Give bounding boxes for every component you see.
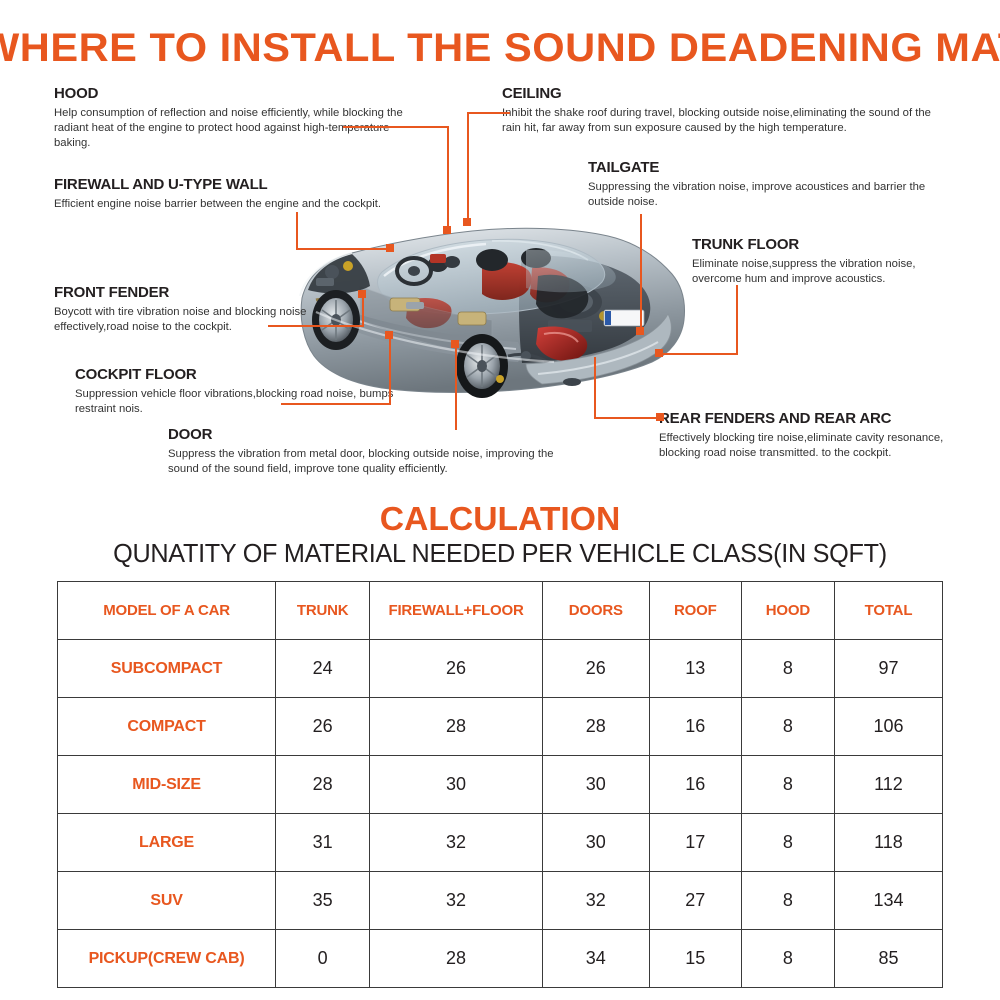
page-title: WHERE TO INSTALL THE SOUND DEADENING MAT…: [0, 26, 1000, 71]
cell-hood: 8: [741, 930, 834, 988]
callout-front-fender-desc: Boycott with tire vibration noise and bl…: [54, 305, 384, 335]
callout-hood: HOOD Help consumption of reflection and …: [54, 86, 404, 151]
connector-firewall-v: [296, 212, 298, 250]
connector-tailgate-dot: [636, 327, 644, 335]
table-row: COMPACT 26 28 28 16 8 106: [58, 698, 943, 756]
cell-firewall-floor: 32: [370, 872, 543, 930]
connector-door-dot: [451, 340, 459, 348]
cell-doors: 32: [542, 872, 649, 930]
cell-total: 118: [834, 814, 942, 872]
cell-firewall-floor: 32: [370, 814, 543, 872]
cell-firewall-floor: 28: [370, 698, 543, 756]
cell-roof: 13: [649, 640, 741, 698]
connector-firewall-h: [296, 248, 392, 250]
callout-trunk-floor-title: TRUNK FLOOR: [692, 237, 962, 254]
callout-rear-fenders-desc: Effectively blocking tire noise,eliminat…: [659, 431, 959, 461]
cell-hood: 8: [741, 698, 834, 756]
table-row: PICKUP(CREW CAB) 0 28 34 15 8 85: [58, 930, 943, 988]
cell-trunk: 0: [276, 930, 370, 988]
table-header-total: TOTAL: [834, 582, 942, 640]
cell-trunk: 26: [276, 698, 370, 756]
table-row: MID-SIZE 28 30 30 16 8 112: [58, 756, 943, 814]
table-row: LARGE 31 32 30 17 8 118: [58, 814, 943, 872]
connector-rear-fenders-h: [594, 417, 656, 419]
callout-rear-fenders-title: REAR FENDERS AND REAR ARC: [659, 411, 959, 428]
callout-cockpit-floor-desc: Suppression vehicle floor vibrations,blo…: [75, 387, 405, 417]
material-quantity-table: MODEL OF A CAR TRUNK FIREWALL+FLOOR DOOR…: [57, 581, 943, 988]
table-header-firewall-floor: FIREWALL+FLOOR: [370, 582, 543, 640]
cell-doors: 34: [542, 930, 649, 988]
callout-cockpit-floor-title: COCKPIT FLOOR: [75, 367, 405, 384]
cell-model: SUBCOMPACT: [58, 640, 276, 698]
cell-total: 97: [834, 640, 942, 698]
callout-trunk-floor-desc: Eliminate noise,suppress the vibration n…: [692, 257, 962, 287]
table-row: SUBCOMPACT 24 26 26 13 8 97: [58, 640, 943, 698]
connector-ceiling-dot: [463, 218, 471, 226]
cell-model: MID-SIZE: [58, 756, 276, 814]
callout-hood-title: HOOD: [54, 86, 404, 103]
cell-doors: 26: [542, 640, 649, 698]
calculation-subheading: QUNATITY OF MATERIAL NEEDED PER VEHICLE …: [15, 538, 985, 569]
connector-trunk-floor-h: [660, 353, 738, 355]
connector-front-fender-dot: [358, 290, 366, 298]
table-row: SUV 35 32 32 27 8 134: [58, 872, 943, 930]
connector-trunk-floor-v: [736, 285, 738, 355]
connector-hood-dot: [443, 226, 451, 234]
connector-hood-h: [343, 126, 449, 128]
cell-roof: 27: [649, 872, 741, 930]
table-header-doors: DOORS: [542, 582, 649, 640]
connector-cockpit-floor-h: [281, 403, 391, 405]
cell-trunk: 24: [276, 640, 370, 698]
callout-trunk-floor: TRUNK FLOOR Eliminate noise,suppress the…: [692, 237, 962, 287]
callout-ceiling-title: CEILING: [502, 86, 942, 103]
cell-total: 134: [834, 872, 942, 930]
cell-model: PICKUP(CREW CAB): [58, 930, 276, 988]
callout-ceiling-desc: Inhibit the shake roof during travel, bl…: [502, 106, 942, 136]
connector-ceiling-h: [467, 112, 510, 114]
cell-trunk: 31: [276, 814, 370, 872]
table-header-trunk: TRUNK: [276, 582, 370, 640]
cell-hood: 8: [741, 872, 834, 930]
connector-rear-fenders-v: [594, 357, 596, 419]
callout-door-title: DOOR: [168, 427, 558, 444]
infographic-page: WHERE TO INSTALL THE SOUND DEADENING MAT…: [0, 0, 1000, 1000]
callout-tailgate-title: TAILGATE: [588, 160, 948, 177]
connector-tailgate-v: [640, 214, 642, 332]
callout-door: DOOR Suppress the vibration from metal d…: [168, 427, 558, 477]
cell-hood: 8: [741, 640, 834, 698]
callout-firewall: FIREWALL AND U-TYPE WALL Efficient engin…: [54, 177, 454, 212]
cell-model: COMPACT: [58, 698, 276, 756]
table-header-hood: HOOD: [741, 582, 834, 640]
cell-roof: 16: [649, 698, 741, 756]
callout-tailgate: TAILGATE Suppressing the vibration noise…: [588, 160, 948, 210]
cell-firewall-floor: 28: [370, 930, 543, 988]
cell-hood: 8: [741, 814, 834, 872]
cell-doors: 30: [542, 756, 649, 814]
cell-roof: 17: [649, 814, 741, 872]
cell-total: 85: [834, 930, 942, 988]
connector-rear-fenders-dot: [656, 413, 664, 421]
cell-firewall-floor: 26: [370, 640, 543, 698]
callout-hood-desc: Help consumption of reflection and noise…: [54, 106, 404, 151]
cell-doors: 28: [542, 698, 649, 756]
cell-total: 112: [834, 756, 942, 814]
cell-hood: 8: [741, 756, 834, 814]
connector-cockpit-floor-dot: [385, 331, 393, 339]
cell-total: 106: [834, 698, 942, 756]
cell-doors: 30: [542, 814, 649, 872]
callout-door-desc: Suppress the vibration from metal door, …: [168, 447, 558, 477]
table-header-roof: ROOF: [649, 582, 741, 640]
calculation-heading: CALCULATION: [0, 500, 1000, 538]
connector-firewall-dot: [386, 244, 394, 252]
connector-door-v: [455, 345, 457, 430]
cell-firewall-floor: 30: [370, 756, 543, 814]
callout-firewall-title: FIREWALL AND U-TYPE WALL: [54, 177, 454, 194]
cell-model: LARGE: [58, 814, 276, 872]
connector-front-fender-h: [268, 325, 364, 327]
callout-tailgate-desc: Suppressing the vibration noise, improve…: [588, 180, 948, 210]
cell-trunk: 28: [276, 756, 370, 814]
connector-trunk-floor-dot: [655, 349, 663, 357]
callout-ceiling: CEILING Inhibit the shake roof during tr…: [502, 86, 942, 136]
callout-front-fender-title: FRONT FENDER: [54, 285, 384, 302]
table-header-row: MODEL OF A CAR TRUNK FIREWALL+FLOOR DOOR…: [58, 582, 943, 640]
connector-ceiling-v: [467, 112, 469, 223]
callout-rear-fenders: REAR FENDERS AND REAR ARC Effectively bl…: [659, 411, 959, 461]
callout-front-fender: FRONT FENDER Boycott with tire vibration…: [54, 285, 384, 335]
cell-model: SUV: [58, 872, 276, 930]
connector-cockpit-floor-v: [389, 336, 391, 405]
cell-roof: 16: [649, 756, 741, 814]
callout-firewall-desc: Efficient engine noise barrier between t…: [54, 197, 454, 212]
cell-roof: 15: [649, 930, 741, 988]
callout-cockpit-floor: COCKPIT FLOOR Suppression vehicle floor …: [75, 367, 405, 417]
cell-trunk: 35: [276, 872, 370, 930]
connector-front-fender-v: [362, 295, 364, 327]
table-header-model: MODEL OF A CAR: [58, 582, 276, 640]
